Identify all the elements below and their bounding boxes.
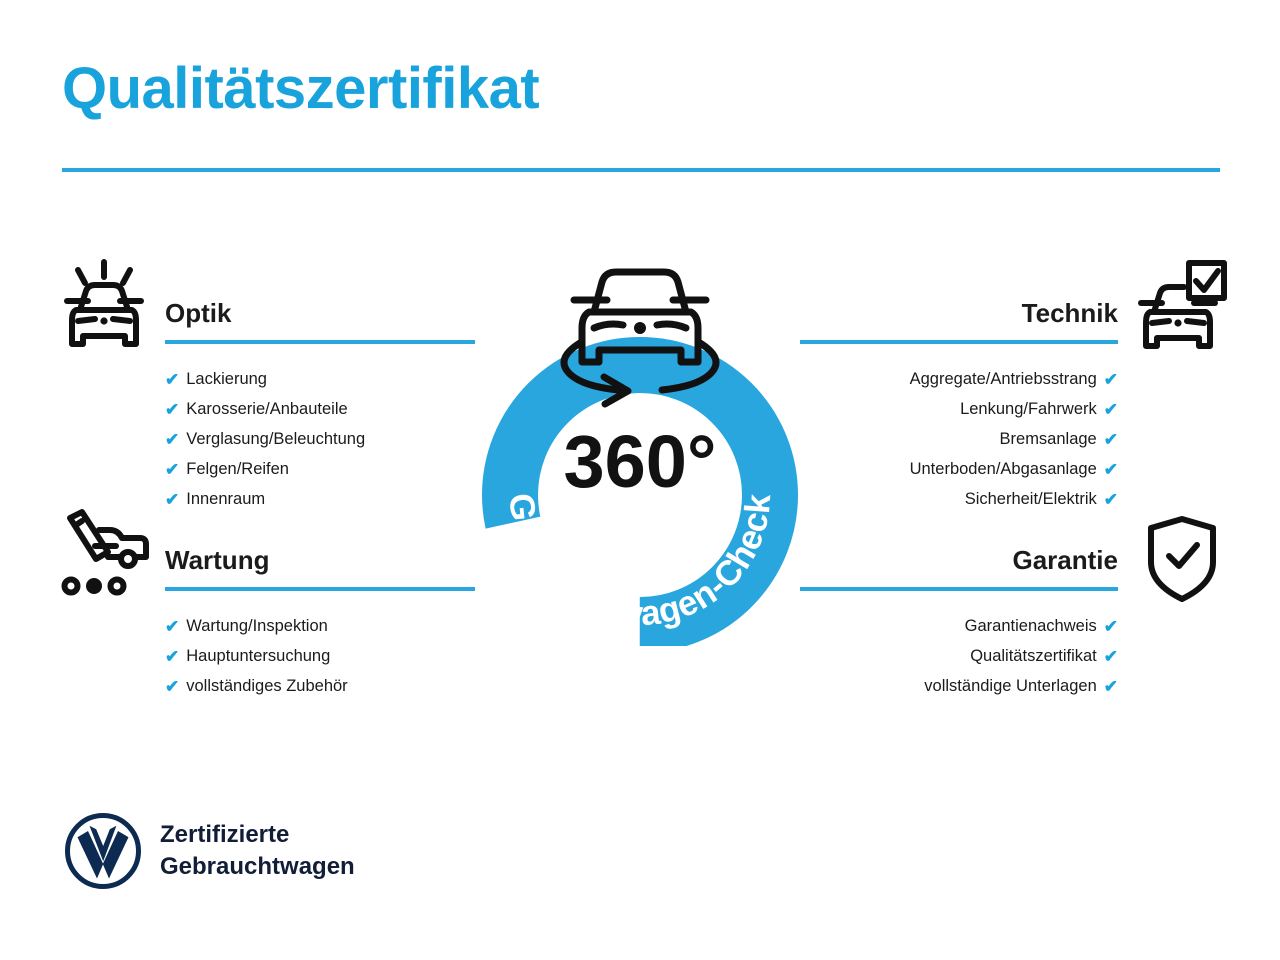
list-item-label: Karosserie/Anbauteile xyxy=(186,394,347,424)
section-garantie: Garantie Garantienachweis✔ Qualitätszert… xyxy=(800,547,1118,701)
check-icon: ✔ xyxy=(165,648,179,665)
list-item: Unterboden/Abgasanlage✔ xyxy=(800,454,1118,484)
badge-360-check: 360° Gebrauchtwagen-Check xyxy=(468,250,812,646)
list-item: ✔vollständiges Zubehör xyxy=(165,671,475,701)
section-wartung-header: Wartung xyxy=(165,547,475,591)
list-item-label: vollständiges Zubehör xyxy=(186,671,347,701)
footer-logo-text: Zertifizierte Gebrauchtwagen xyxy=(160,819,355,882)
footer-line-2: Gebrauchtwagen xyxy=(160,851,355,883)
section-technik-header: Technik xyxy=(800,300,1118,344)
check-icon: ✔ xyxy=(1104,461,1118,478)
list-item-label: Verglasung/Beleuchtung xyxy=(186,424,365,454)
list-item-label: Lenkung/Fahrwerk xyxy=(960,394,1097,424)
page-title: Qualitätszertifikat xyxy=(62,58,539,121)
check-icon: ✔ xyxy=(165,491,179,508)
section-optik-underline xyxy=(165,340,475,344)
check-icon: ✔ xyxy=(1104,678,1118,695)
section-wartung-underline xyxy=(165,587,475,591)
list-item: vollständige Unterlagen✔ xyxy=(800,671,1118,701)
list-item: Bremsanlage✔ xyxy=(800,424,1118,454)
check-icon: ✔ xyxy=(1104,491,1118,508)
section-optik: Optik ✔Lackierung ✔Karosserie/Anbauteile… xyxy=(165,300,475,514)
check-icon: ✔ xyxy=(165,401,179,418)
list-item: ✔Innenraum xyxy=(165,484,475,514)
list-item-label: Sicherheit/Elektrik xyxy=(965,484,1097,514)
list-item: ✔Karosserie/Anbauteile xyxy=(165,394,475,424)
check-icon: ✔ xyxy=(1104,431,1118,448)
title-divider xyxy=(62,168,1220,172)
list-item-label: Bremsanlage xyxy=(1000,424,1097,454)
footer-line-1: Zertifizierte xyxy=(160,819,355,851)
check-icon: ✔ xyxy=(165,678,179,695)
shield-check-icon xyxy=(1146,514,1218,604)
list-item-label: Qualitätszertifikat xyxy=(970,641,1097,671)
vw-certified-logo: Zertifizierte Gebrauchtwagen xyxy=(64,812,355,890)
list-item-label: Hauptuntersuchung xyxy=(186,641,330,671)
list-item-label: Unterboden/Abgasanlage xyxy=(910,454,1097,484)
section-wartung-title: Wartung xyxy=(165,547,475,573)
check-icon: ✔ xyxy=(1104,648,1118,665)
section-optik-list: ✔Lackierung ✔Karosserie/Anbauteile ✔Verg… xyxy=(165,344,475,514)
car-service-pencil-icon xyxy=(58,508,154,600)
list-item: Qualitätszertifikat✔ xyxy=(800,641,1118,671)
check-icon: ✔ xyxy=(1104,618,1118,635)
check-icon: ✔ xyxy=(165,431,179,448)
list-item: ✔Lackierung xyxy=(165,364,475,394)
badge-center-label: 360° xyxy=(563,420,716,503)
check-icon: ✔ xyxy=(165,461,179,478)
list-item: ✔Felgen/Reifen xyxy=(165,454,475,484)
section-wartung: Wartung ✔Wartung/Inspektion ✔Hauptunters… xyxy=(165,547,475,701)
section-technik-underline xyxy=(800,340,1118,344)
check-icon: ✔ xyxy=(165,618,179,635)
list-item-label: Lackierung xyxy=(186,364,267,394)
list-item: Sicherheit/Elektrik✔ xyxy=(800,484,1118,514)
list-item: Garantienachweis✔ xyxy=(800,611,1118,641)
list-item-label: Innenraum xyxy=(186,484,265,514)
section-garantie-underline xyxy=(800,587,1118,591)
section-wartung-list: ✔Wartung/Inspektion ✔Hauptuntersuchung ✔… xyxy=(165,591,475,701)
list-item-label: vollständige Unterlagen xyxy=(924,671,1096,701)
list-item: Aggregate/Antriebsstrang✔ xyxy=(800,364,1118,394)
vw-logo-icon xyxy=(64,812,142,890)
section-optik-header: Optik xyxy=(165,300,475,344)
list-item-label: Garantienachweis xyxy=(965,611,1097,641)
car-shine-icon xyxy=(58,258,150,358)
check-icon: ✔ xyxy=(1104,401,1118,418)
section-garantie-list: Garantienachweis✔ Qualitätszertifikat✔ v… xyxy=(800,591,1118,701)
section-technik: Technik Aggregate/Antriebsstrang✔ Lenkun… xyxy=(800,300,1118,514)
check-icon: ✔ xyxy=(1104,371,1118,388)
section-technik-list: Aggregate/Antriebsstrang✔ Lenkung/Fahrwe… xyxy=(800,344,1118,514)
list-item: ✔Wartung/Inspektion xyxy=(165,611,475,641)
list-item-label: Aggregate/Antriebsstrang xyxy=(910,364,1097,394)
car-checkbox-icon xyxy=(1134,258,1228,358)
list-item-label: Wartung/Inspektion xyxy=(186,611,328,641)
list-item: ✔Verglasung/Beleuchtung xyxy=(165,424,475,454)
list-item: Lenkung/Fahrwerk✔ xyxy=(800,394,1118,424)
list-item: ✔Hauptuntersuchung xyxy=(165,641,475,671)
list-item-label: Felgen/Reifen xyxy=(186,454,289,484)
certificate-page: Qualitätszertifikat Optik ✔Lackierung ✔K… xyxy=(0,0,1280,960)
section-technik-title: Technik xyxy=(800,300,1118,326)
section-optik-title: Optik xyxy=(165,300,475,326)
section-garantie-header: Garantie xyxy=(800,547,1118,591)
section-garantie-title: Garantie xyxy=(800,547,1118,573)
check-icon: ✔ xyxy=(165,371,179,388)
